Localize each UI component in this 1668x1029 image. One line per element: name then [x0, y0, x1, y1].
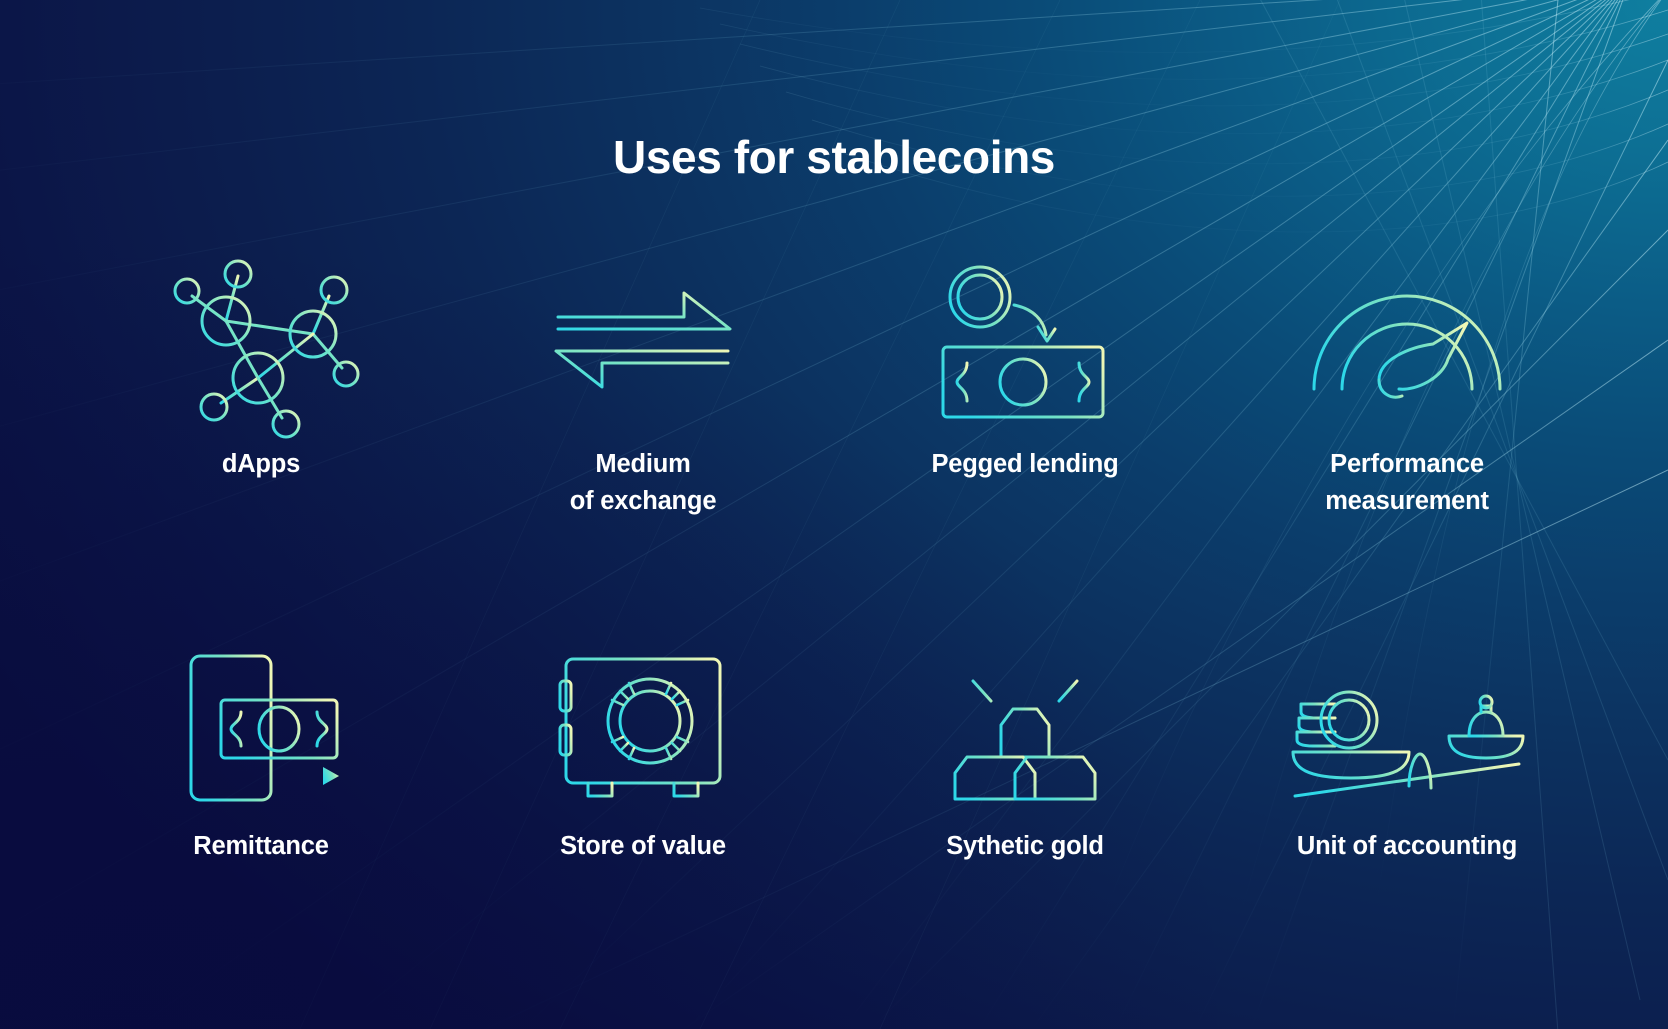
- grid-cell-dapps[interactable]: dApps: [70, 236, 452, 520]
- gold-bars-icon: [834, 628, 1216, 828]
- phone-money-transfer-icon: [70, 628, 452, 828]
- grid-cell-label: Medium of exchange: [570, 446, 717, 520]
- infographic-slide: Uses for stablecoins: [0, 0, 1668, 1029]
- grid-cell-label: Sythetic gold: [946, 828, 1104, 865]
- grid-cell-sythetic-gold[interactable]: Sythetic gold: [834, 628, 1216, 865]
- grid-cell-store-of-value[interactable]: Store of value: [452, 628, 834, 865]
- grid-cell-label: Pegged lending: [931, 446, 1118, 483]
- grid-cell-remittance[interactable]: Remittance: [70, 628, 452, 865]
- safe-vault-icon: [452, 628, 834, 828]
- grid-cell-label: Remittance: [193, 828, 328, 865]
- grid-cell-label: dApps: [222, 446, 300, 483]
- uses-grid: dApps Medium of exchange: [70, 236, 1598, 865]
- grid-row-2: Remittance: [70, 628, 1598, 865]
- grid-cell-label: Unit of accounting: [1297, 828, 1517, 865]
- grid-cell-medium-of-exchange[interactable]: Medium of exchange: [452, 236, 834, 520]
- coin-to-banknote-icon: [834, 236, 1216, 446]
- exchange-arrows-icon: [452, 236, 834, 446]
- grid-cell-pegged-lending[interactable]: Pegged lending: [834, 236, 1216, 520]
- balance-scale-icon: [1216, 628, 1598, 828]
- grid-cell-performance-measurement[interactable]: Performance measurement: [1216, 236, 1598, 520]
- page-title: Uses for stablecoins: [0, 132, 1668, 183]
- network-nodes-icon: [70, 236, 452, 446]
- gauge-icon: [1216, 236, 1598, 446]
- grid-cell-label: Store of value: [560, 828, 726, 865]
- grid-row-1: dApps Medium of exchange: [70, 236, 1598, 520]
- grid-cell-label: Performance measurement: [1325, 446, 1489, 520]
- grid-cell-unit-of-accounting[interactable]: Unit of accounting: [1216, 628, 1598, 865]
